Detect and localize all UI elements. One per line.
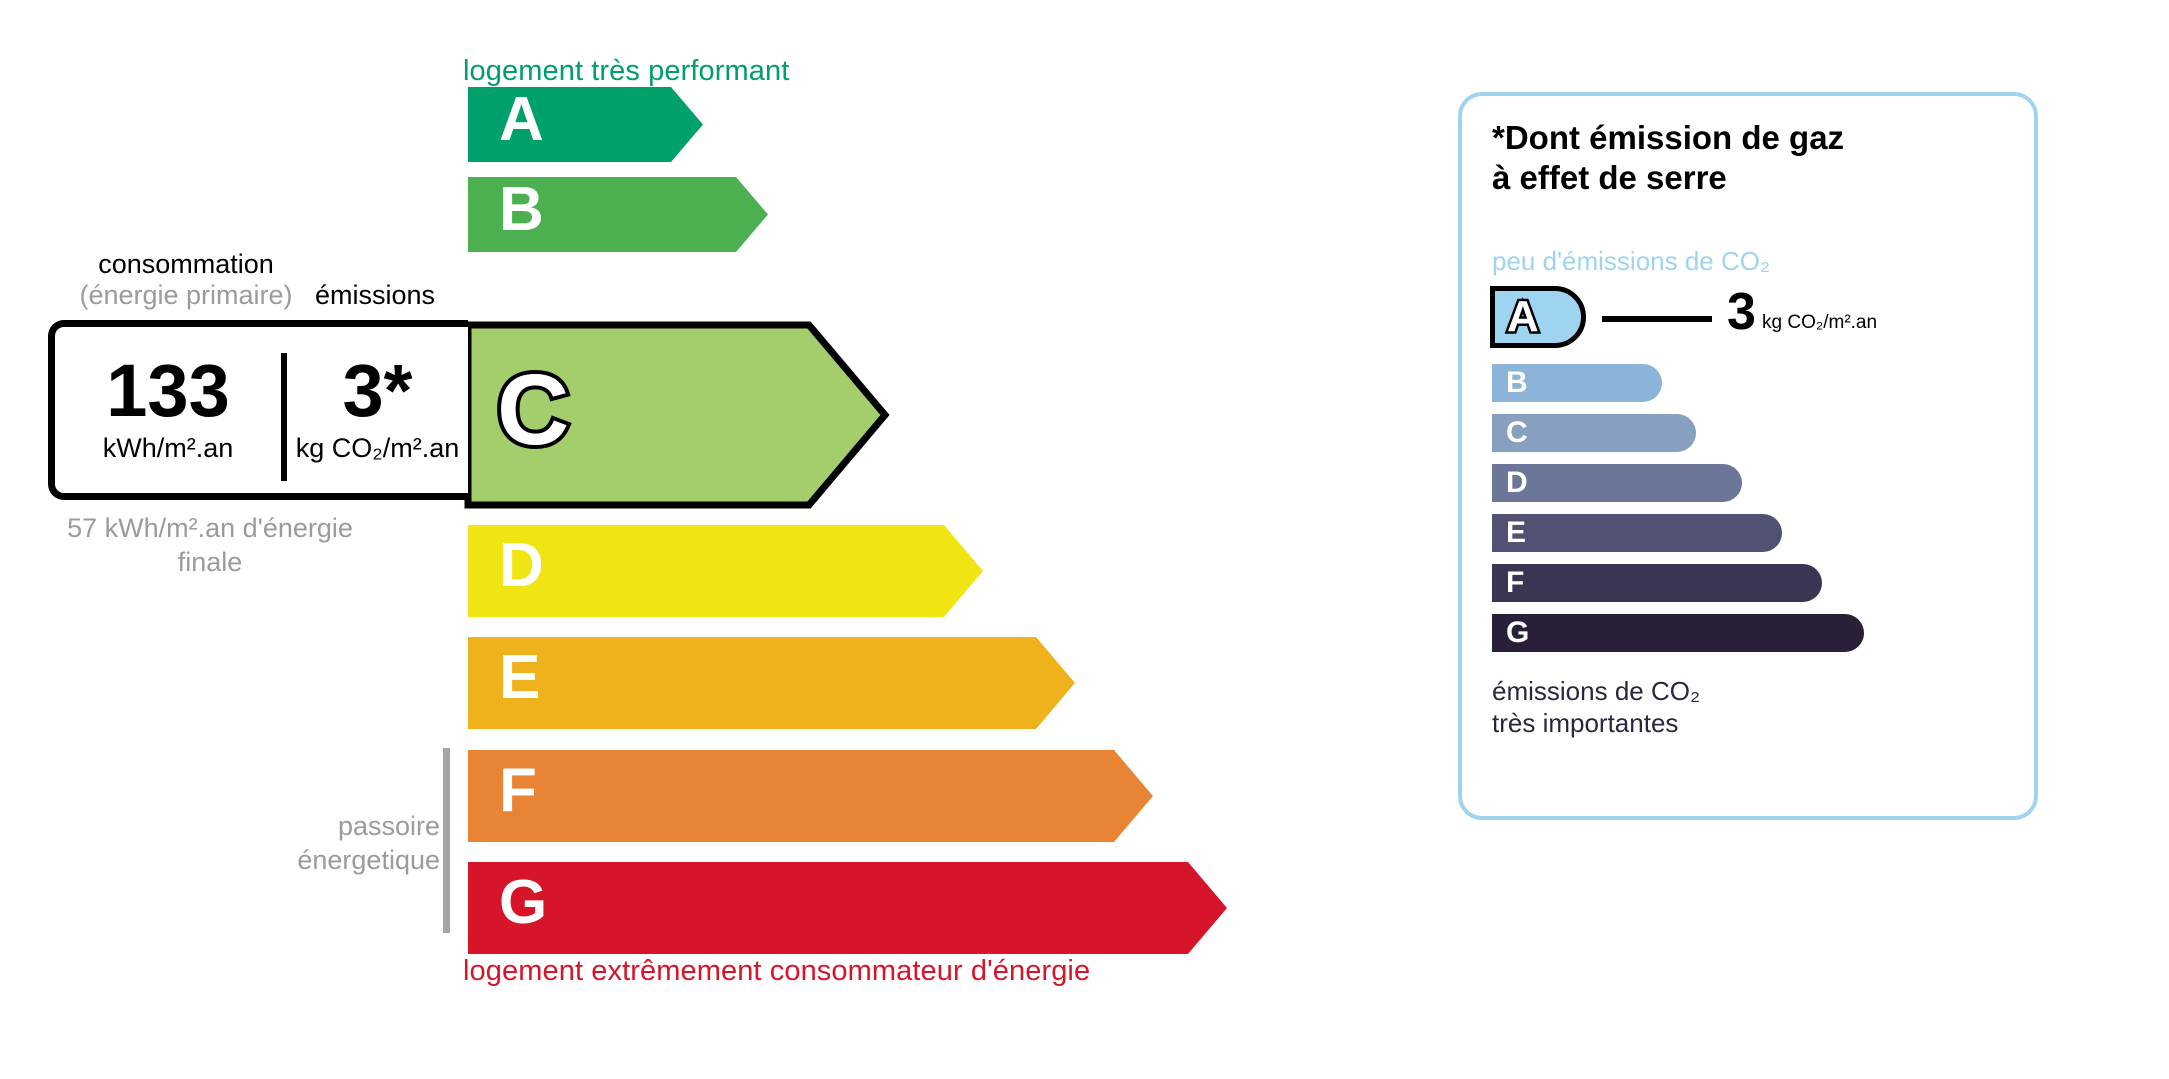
- primary-unit: kWh/m².an: [103, 433, 234, 464]
- co2-bar-g: G: [1492, 614, 1864, 652]
- ladder-bar-c: C: [463, 320, 880, 500]
- primary-value: 133: [106, 356, 229, 426]
- co2-bar-d: D: [1492, 464, 1742, 502]
- ladder-bar-letter: E: [499, 647, 540, 709]
- passoire-indicator-bar: [443, 748, 450, 933]
- ladder-bar-letter: A: [499, 89, 544, 151]
- co2-top-caption: peu d'émissions de CO₂: [1492, 246, 1770, 277]
- ladder-bar-letter: C: [497, 360, 569, 460]
- ladder-bar-letter: G: [499, 872, 547, 934]
- emissions-header: émissions: [300, 280, 450, 311]
- co2-emissions-panel: *Dont émission de gaz à effet de serre p…: [1458, 92, 2038, 820]
- ladder-bar-letter: B: [499, 179, 544, 241]
- co2-bar-letter: G: [1506, 618, 1529, 648]
- co2-bar-letter: E: [1506, 518, 1526, 548]
- ladder-bar-letter: D: [499, 535, 544, 597]
- co2-bar-letter: C: [1506, 418, 1528, 448]
- consommation-sublabel: (énergie primaire): [66, 280, 306, 311]
- co2-bar-e: E: [1492, 514, 1782, 552]
- ladder-bar-letter: F: [499, 760, 537, 822]
- ladder-bar-b: B: [463, 172, 763, 247]
- co2-bar-letter: B: [1506, 368, 1528, 398]
- ladder-bar-d: D: [463, 520, 978, 612]
- passoire-label: passoire énergetique: [230, 810, 440, 878]
- emission-value-cell: 3* kg CO₂/m².an: [287, 327, 468, 493]
- co2-bar-letter: D: [1506, 468, 1528, 498]
- ladder-bar-f: F: [463, 745, 1148, 837]
- final-energy-note: 57 kWh/m².an d'énergie finale: [60, 512, 360, 580]
- value-box: 133 kWh/m².an 3* kg CO₂/m².an: [48, 320, 468, 500]
- ladder-bar-e: E: [463, 632, 1070, 724]
- co2-value: 3: [1727, 286, 1756, 338]
- dpe-diagram: logement très performant ABCDEFG consomm…: [0, 0, 2169, 1079]
- co2-bar-f: F: [1492, 564, 1822, 602]
- co2-bar-b: B: [1492, 364, 1662, 402]
- co2-bottom-caption: émissions de CO₂ très importantes: [1492, 676, 1700, 739]
- consommation-header: consommation (énergie primaire): [66, 249, 306, 311]
- energy-consumption-ladder: logement très performant ABCDEFG consomm…: [0, 0, 1400, 1079]
- co2-bar-c: C: [1492, 414, 1696, 452]
- emission-unit: kg CO₂/m².an: [296, 433, 460, 464]
- co2-class-a-letter: A: [1507, 295, 1539, 339]
- ladder-bar-g: G: [463, 857, 1222, 949]
- ladder-bar-a: A: [463, 82, 698, 157]
- co2-class-a-badge: A: [1490, 286, 1586, 348]
- ladder-bottom-caption: logement extrêmement consommateur d'éner…: [463, 955, 1090, 988]
- primary-value-cell: 133 kWh/m².an: [55, 327, 281, 493]
- co2-unit: kg CO₂/m².an: [1762, 312, 1877, 334]
- consommation-label: consommation: [98, 249, 274, 279]
- co2-panel-title: *Dont émission de gaz à effet de serre: [1492, 118, 1844, 199]
- co2-bar-letter: F: [1506, 568, 1524, 598]
- emission-value: 3*: [343, 356, 413, 426]
- co2-leader-line: [1602, 316, 1712, 322]
